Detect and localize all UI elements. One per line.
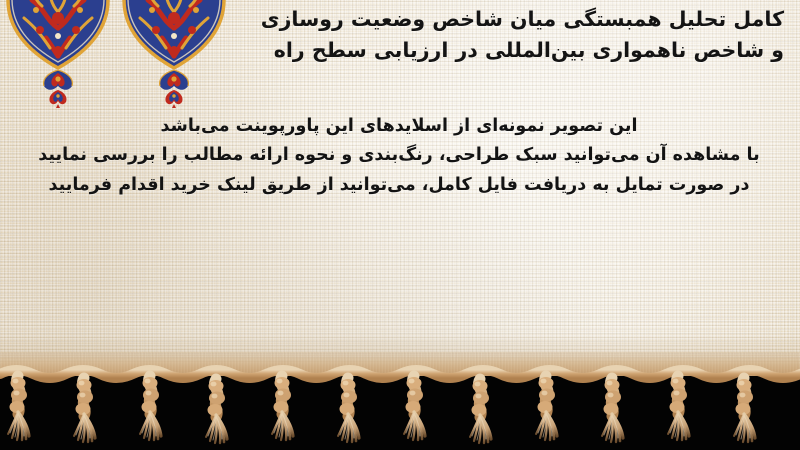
illumination-medallion-icon	[122, 0, 226, 70]
fringe-tassel-group	[8, 376, 755, 443]
body-text-line-1: این تصویر نمونه‌ای از اسلایدهای این پاور…	[16, 112, 782, 141]
slide-canvas: کامل تحلیل همبستگی میان شاخص وضعیت روساز…	[0, 0, 800, 450]
body-text-line-3: در صورت تمایل به دریافت فایل کامل، می‌تو…	[16, 171, 782, 200]
carpet-fringe	[0, 352, 800, 450]
illumination-pendant-upper-icon	[41, 70, 75, 92]
illumination-medallion-icon	[6, 0, 110, 70]
slide-title-line-1: کامل تحلیل همبستگی میان شاخص وضعیت روساز…	[224, 4, 784, 35]
body-text-line-2: با مشاهده آن می‌توانید سبک طراحی، رنگ‌بن…	[16, 141, 782, 170]
slide-title-line-2: و شاخص ناهمواری بین‌المللی در ارزیابی سط…	[224, 35, 784, 66]
illumination-pendant-lower-icon	[47, 90, 69, 108]
illumination-pendant-lower-icon	[163, 90, 185, 108]
persian-illumination-ornament-left	[6, 0, 110, 96]
persian-illumination-ornament-right	[122, 0, 226, 96]
slide-title: کامل تحلیل همبستگی میان شاخص وضعیت روساز…	[224, 4, 784, 66]
illumination-pendant-upper-icon	[157, 70, 191, 92]
slide-body-text: این تصویر نمونه‌ای از اسلایدهای این پاور…	[16, 112, 782, 200]
